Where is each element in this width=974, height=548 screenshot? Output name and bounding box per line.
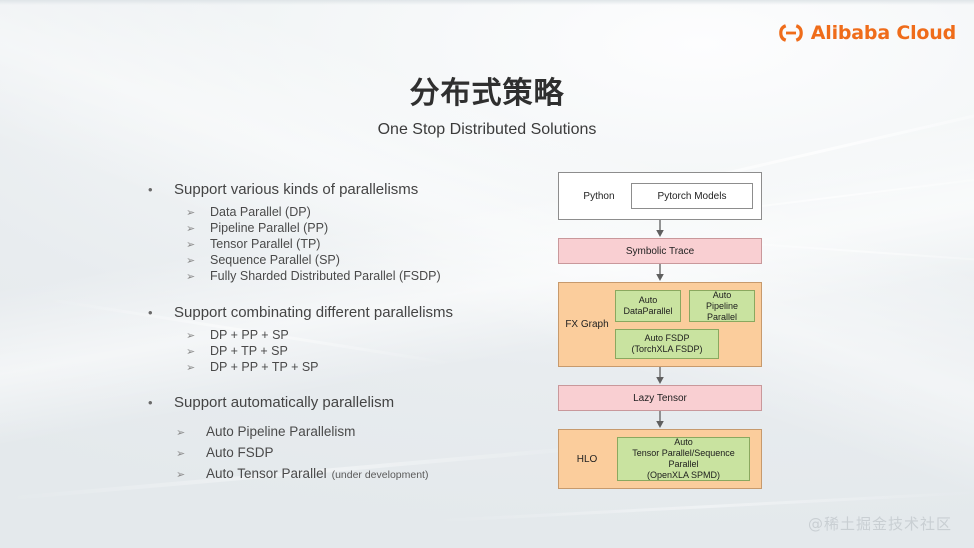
arrowhead-bullet-icon: ➢ xyxy=(186,206,210,221)
symbolic-trace-box: Symbolic Trace xyxy=(558,238,762,264)
slide-canvas: Alibaba Cloud 分布式策略 One Stop Distributed… xyxy=(0,0,974,548)
hlo-content: Auto Tensor Parallel/Sequence Parallel (… xyxy=(615,430,761,488)
fx-graph-stage-box: FX Graph Auto DataParallel Auto Pipeline… xyxy=(558,282,762,367)
arrowhead-bullet-icon: ➢ xyxy=(176,466,206,485)
brand-name: Alibaba Cloud xyxy=(811,22,956,44)
hlo-label: HLO xyxy=(559,430,615,488)
fx-graph-top-row: Auto DataParallel Auto Pipeline Parallel xyxy=(615,290,755,322)
bullet-group-2: • Support combinating different parallel… xyxy=(148,304,548,376)
auto-pipeline-parallel-box: Auto Pipeline Parallel xyxy=(689,290,755,322)
arrowhead-bullet-icon: ➢ xyxy=(186,345,210,360)
auto-fsdp-line2: (TorchXLA FSDP) xyxy=(631,344,702,355)
list-item: ➢ Data Parallel (DP) xyxy=(186,205,548,221)
list-item: ➢ Fully Sharded Distributed Parallel (FS… xyxy=(186,269,548,285)
list-item-label: DP + TP + SP xyxy=(210,344,288,359)
auto-tensor-sequence-parallel-box: Auto Tensor Parallel/Sequence Parallel (… xyxy=(617,437,750,481)
bullet-dot-icon: • xyxy=(148,394,174,412)
sub-bullet-list: ➢ Data Parallel (DP) ➢ Pipeline Parallel… xyxy=(186,205,548,285)
bullet-group-1: • Support various kinds of parallelisms … xyxy=(148,181,548,285)
python-label: Python xyxy=(567,191,631,202)
bullet-dot-icon: • xyxy=(148,181,174,199)
bullet-heading-text: Support various kinds of parallelisms xyxy=(174,181,418,199)
list-item: ➢ Auto FSDP xyxy=(176,443,548,464)
list-item-label: Auto Pipeline Parallelism xyxy=(206,422,355,441)
auto-dataparallel-box: Auto DataParallel xyxy=(615,290,681,322)
list-item: ➢ DP + PP + TP + SP xyxy=(186,360,548,376)
pipeline-diagram: Python Pytorch Models Symbolic Trace FX … xyxy=(558,172,762,489)
spacer xyxy=(148,285,548,304)
list-item-label: DP + PP + TP + SP xyxy=(210,360,319,375)
top-band-decoration xyxy=(0,0,974,5)
bullet-heading-text: Support combinating different parallelis… xyxy=(174,304,453,322)
arrowhead-bullet-icon: ➢ xyxy=(186,222,210,237)
hlo-green-line3: (OpenXLA SPMD) xyxy=(647,470,720,481)
arrowhead-bullet-icon: ➢ xyxy=(186,329,210,344)
bullet-list: • Support various kinds of parallelisms … xyxy=(148,181,548,485)
list-item-label: Pipeline Parallel (PP) xyxy=(210,221,328,236)
list-item-label: Data Parallel (DP) xyxy=(210,205,311,220)
spacer xyxy=(148,376,548,394)
page-title: 分布式策略 xyxy=(0,68,974,112)
down-arrow-icon xyxy=(558,367,762,385)
fx-graph-content: Auto DataParallel Auto Pipeline Parallel… xyxy=(615,283,761,366)
list-item: ➢ Tensor Parallel (TP) xyxy=(186,237,548,253)
arrowhead-bullet-icon: ➢ xyxy=(176,445,206,464)
watermark: @稀土掘金技术社区 xyxy=(808,513,952,534)
list-item: ➢ DP + TP + SP xyxy=(186,344,548,360)
list-item-label: Auto FSDP xyxy=(206,443,274,462)
auto-fsdp-line1: Auto FSDP xyxy=(644,333,689,344)
list-item-label: Auto Tensor Parallel xyxy=(206,464,327,483)
hlo-green-line1: Auto xyxy=(674,437,693,448)
bullet-heading-text: Support automatically parallelism xyxy=(174,394,394,412)
arrowhead-bullet-icon: ➢ xyxy=(176,424,206,443)
pytorch-models-box: Pytorch Models xyxy=(631,183,753,209)
list-item-label: Fully Sharded Distributed Parallel (FSDP… xyxy=(210,269,441,284)
page-subtitle: One Stop Distributed Solutions xyxy=(0,121,974,139)
list-item: ➢ Auto Pipeline Parallelism xyxy=(176,422,548,443)
arrowhead-bullet-icon: ➢ xyxy=(186,361,210,376)
hlo-green-line2: Tensor Parallel/Sequence Parallel xyxy=(618,448,749,470)
auto-pipeline-line1: Auto xyxy=(713,290,732,301)
auto-dataparallel-line1: Auto xyxy=(639,295,658,306)
down-arrow-icon xyxy=(558,220,762,238)
list-item: ➢ Auto Tensor Parallel (under developmen… xyxy=(176,464,548,485)
bullet-heading: • Support various kinds of parallelisms xyxy=(148,181,548,199)
bullet-heading: • Support combinating different parallel… xyxy=(148,304,548,322)
auto-dataparallel-line2: DataParallel xyxy=(623,306,672,317)
sub-bullet-list: ➢ Auto Pipeline Parallelism ➢ Auto FSDP … xyxy=(176,422,548,485)
arrowhead-bullet-icon: ➢ xyxy=(186,270,210,285)
arrowhead-bullet-icon: ➢ xyxy=(186,238,210,253)
lazy-tensor-box: Lazy Tensor xyxy=(558,385,762,411)
auto-pipeline-line2: Pipeline Parallel xyxy=(690,301,754,323)
list-item-label: DP + PP + SP xyxy=(210,328,289,343)
list-item: ➢ DP + PP + SP xyxy=(186,328,548,344)
down-arrow-icon xyxy=(558,411,762,429)
alibaba-cloud-mark-icon xyxy=(778,20,804,46)
auto-fsdp-box: Auto FSDP (TorchXLA FSDP) xyxy=(615,329,719,359)
list-item-label: Sequence Parallel (SP) xyxy=(210,253,340,268)
alibaba-cloud-logo: Alibaba Cloud xyxy=(778,20,956,46)
bullet-dot-icon: • xyxy=(148,304,174,322)
down-arrow-icon xyxy=(558,264,762,282)
python-stage-box: Python Pytorch Models xyxy=(558,172,762,220)
fx-graph-bottom-row: Auto FSDP (TorchXLA FSDP) xyxy=(615,329,755,359)
bullet-group-3: • Support automatically parallelism ➢ Au… xyxy=(148,394,548,485)
bullet-heading: • Support automatically parallelism xyxy=(148,394,548,412)
list-item-note: (under development) xyxy=(332,466,429,485)
fx-graph-label: FX Graph xyxy=(559,283,615,366)
sub-bullet-list: ➢ DP + PP + SP ➢ DP + TP + SP ➢ DP + PP … xyxy=(186,328,548,376)
hlo-stage-box: HLO Auto Tensor Parallel/Sequence Parall… xyxy=(558,429,762,489)
list-item-label: Tensor Parallel (TP) xyxy=(210,237,320,252)
list-item: ➢ Pipeline Parallel (PP) xyxy=(186,221,548,237)
arrowhead-bullet-icon: ➢ xyxy=(186,254,210,269)
list-item: ➢ Sequence Parallel (SP) xyxy=(186,253,548,269)
